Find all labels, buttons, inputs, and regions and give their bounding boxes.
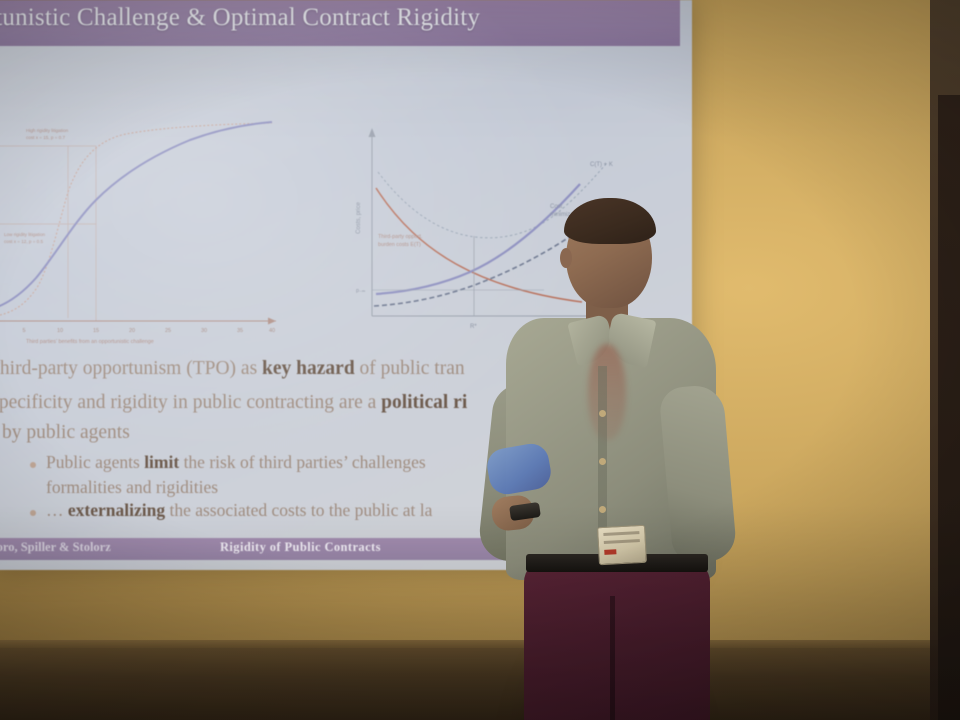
svg-text:10: 10 [57,328,63,334]
bullet-2: Specificity and rigidity in public contr… [0,392,467,414]
subbullet-2-bold: externalizing [68,500,165,520]
presenter-trousers [524,560,710,720]
presenter [468,196,748,720]
presenter-hair [564,198,656,244]
bullet-1-post: of public tran [355,358,465,379]
svg-text:25: 25 [165,328,171,334]
subbullet-2: … externalizing the associated costs to … [46,500,432,521]
shirt-button-2 [599,458,606,465]
subbullet-1-post: the risk of third parties’ challenges [179,452,426,472]
slide-footer-authors: oszoro, Spiller & Stolorz [0,540,240,555]
svg-text:30: 30 [201,328,207,334]
svg-text:High rigidity litigation: High rigidity litigation [26,128,69,133]
svg-text:Third-party opport.: Third-party opport. [378,234,422,240]
chart-left-logistic: 0 5 10 15 20 25 30 35 40 High rigidity l… [0,96,290,346]
svg-text:35: 35 [237,328,243,334]
bullet-2-continuation: by public agents [2,422,130,444]
svg-text:C(T) + K: C(T) + K [590,162,613,168]
svg-text:cost x = 15, p = 0.7: cost x = 15, p = 0.7 [26,135,66,140]
shirt-button-3 [599,506,606,513]
svg-text:cost x = 12, p = 0.5: cost x = 12, p = 0.5 [4,239,44,244]
bullet-1-bold: key hazard [262,358,355,379]
subbullet-1-pre: Public agents [46,452,144,472]
subbullet-marker-1 [30,462,36,468]
svg-text:Low rigidity litigation: Low rigidity litigation [4,232,46,237]
subbullet-1-continuation: formalities and rigidities [46,477,218,498]
subbullet-marker-2 [30,510,36,516]
presenter-trouser-seam [610,596,615,720]
bullet-2-bold: political ri [381,392,467,413]
presenter-shirt-shading [588,344,626,440]
svg-text:p₋ₘ: p₋ₘ [356,288,365,294]
bullet-1: Third-party opportunism (TPO) as key haz… [0,358,465,380]
shirt-button-1 [599,410,606,417]
presenter-ear [560,248,572,268]
svg-text:Third parties’ benefits from a: Third parties’ benefits from an opportun… [26,339,154,345]
svg-text:20: 20 [129,328,135,334]
svg-text:Costs, price: Costs, price [356,202,362,234]
door-frame-dark [938,95,960,720]
subbullet-2-pre: … [46,500,68,520]
svg-text:40: 40 [269,328,275,334]
svg-text:15: 15 [93,328,99,334]
slide-title: ortunistic Challenge & Optimal Contract … [0,4,674,32]
bullet-2-pre: Specificity and rigidity in public contr… [0,392,381,413]
svg-text:5: 5 [22,328,25,334]
svg-text:burden costs E(T): burden costs E(T) [378,242,421,248]
slide-footer-title: Rigidity of Public Contracts [220,540,480,555]
photo-scene: ortunistic Challenge & Optimal Contract … [0,0,960,720]
subbullet-1-bold: limit [144,452,179,472]
subbullet-2-post: the associated costs to the public at la [165,500,432,520]
subbullet-1: Public agents limit the risk of third pa… [46,452,426,473]
presenter-name-badge [597,525,647,565]
bullet-1-pre: Third-party opportunism (TPO) as [0,358,262,379]
